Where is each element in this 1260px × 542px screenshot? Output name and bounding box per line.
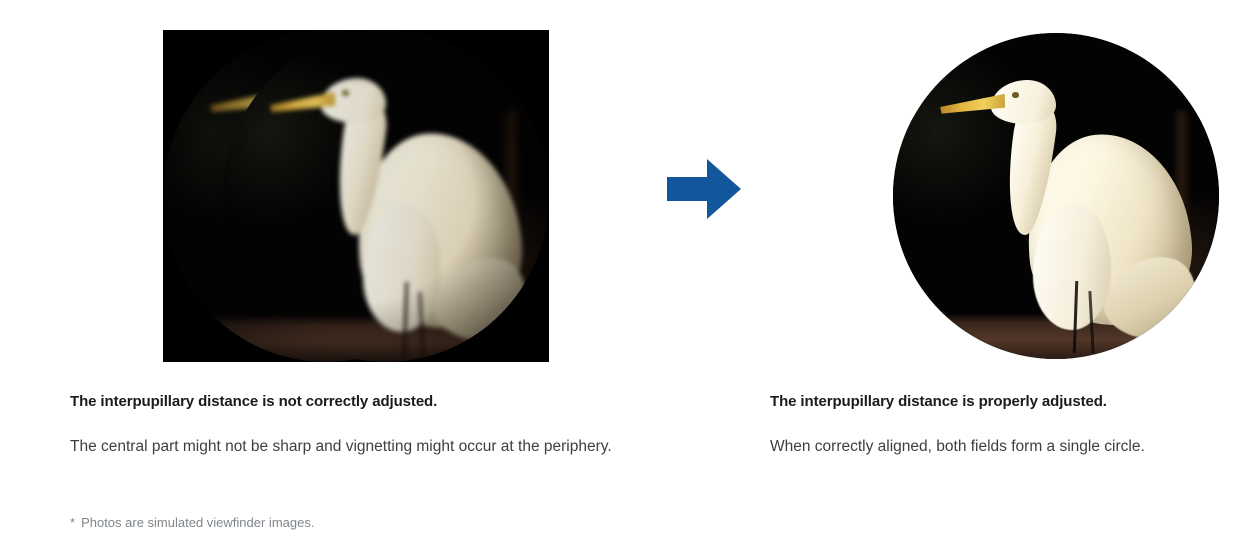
caption-left-body: The central part might not be sharp and …: [70, 432, 690, 462]
footnote: *Photos are simulated viewfinder images.: [70, 514, 314, 532]
caption-right: The interpupillary distance is properly …: [770, 392, 1240, 462]
egret-figure: [223, 30, 549, 362]
egret-eye: [342, 90, 349, 96]
caption-right-title: The interpupillary distance is properly …: [770, 392, 1240, 412]
figure-row: [0, 0, 1260, 375]
aligned-viewfinder-photo: [893, 33, 1219, 359]
misaligned-viewfinder-photo: [163, 30, 549, 362]
right-arrow-icon: [667, 159, 741, 219]
caption-left: The interpupillary distance is not corre…: [70, 392, 690, 462]
footnote-text: Photos are simulated viewfinder images.: [81, 515, 314, 530]
caption-left-title: The interpupillary distance is not corre…: [70, 392, 690, 412]
caption-right-body: When correctly aligned, both fields form…: [770, 432, 1240, 462]
footnote-marker: *: [70, 515, 75, 530]
viewfinder-field-right: [223, 30, 549, 362]
egret-figure: [893, 33, 1219, 359]
egret-eye: [1012, 92, 1019, 98]
